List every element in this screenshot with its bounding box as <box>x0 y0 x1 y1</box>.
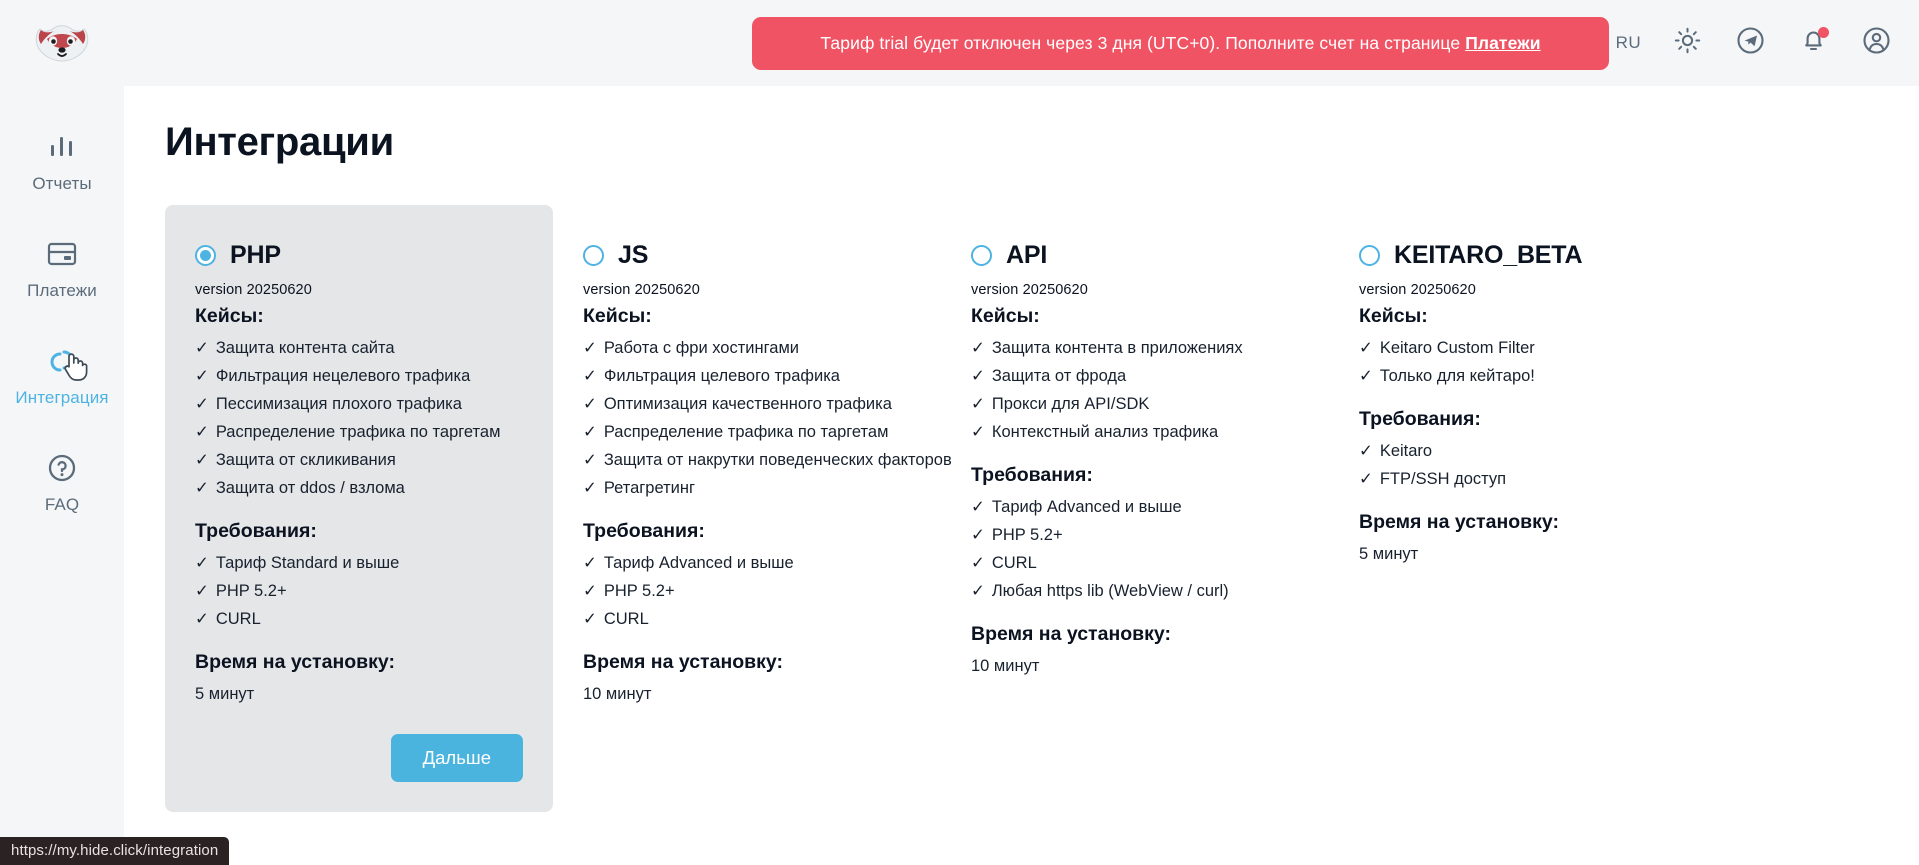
telegram-icon <box>1736 26 1765 60</box>
requirement-text: PHP 5.2+ <box>992 523 1063 547</box>
list-item: ✓PHP 5.2+ <box>971 521 1299 549</box>
account-button[interactable] <box>1859 26 1893 60</box>
list-item: ✓Keitaro <box>1359 437 1687 465</box>
requirements-heading-php: Требования: <box>195 520 523 543</box>
card-title-js: JS <box>618 241 648 270</box>
case-text: Прокси для API/SDK <box>992 392 1150 416</box>
install-time-heading-js: Время на установку: <box>583 651 911 674</box>
card-header-api: API <box>971 241 1299 270</box>
requirement-text: Тариф Advanced и выше <box>604 551 794 575</box>
sidebar-nav: Отчеты Платежи <box>0 114 124 542</box>
case-text: Защита контента сайта <box>216 336 395 360</box>
sidebar-item-payments[interactable]: Платежи <box>0 221 124 314</box>
app-root: Отчеты Платежи <box>0 0 1919 865</box>
list-item: ✓Ретагретинг <box>583 474 911 502</box>
check-icon: ✓ <box>1359 439 1373 463</box>
list-item: ✓Работа с фри хостингами <box>583 334 911 362</box>
integration-card-keitaro-beta[interactable]: KEITARO_BETA version 20250620 Кейсы: ✓Ke… <box>1329 205 1717 598</box>
list-item: ✓Фильтрация целевого трафика <box>583 362 911 390</box>
sidebar-item-integration[interactable]: Интеграция <box>0 328 124 421</box>
check-icon: ✓ <box>195 420 209 444</box>
case-text: Keitaro Custom Filter <box>1380 336 1535 360</box>
card-version-js: version 20250620 <box>583 282 911 298</box>
requirement-text: Тариф Standard и выше <box>216 551 399 575</box>
card-header-keitaro: KEITARO_BETA <box>1359 241 1687 270</box>
sidebar-item-label-faq: FAQ <box>45 495 79 515</box>
card-title-php: PHP <box>230 241 281 270</box>
install-time-value-keitaro: 5 минут <box>1359 540 1687 568</box>
sidebar-item-reports[interactable]: Отчеты <box>0 114 124 207</box>
credit-card-icon <box>45 234 79 274</box>
case-text: Контекстный анализ трафика <box>992 420 1218 444</box>
topbar: Тариф trial будет отключен через 3 дня (… <box>124 0 1919 86</box>
list-item: ✓CURL <box>583 605 911 633</box>
cases-heading-keitaro: Кейсы: <box>1359 305 1687 328</box>
check-icon: ✓ <box>971 523 985 547</box>
check-icon: ✓ <box>195 448 209 472</box>
list-item: ✓Защита контента сайта <box>195 334 523 362</box>
requirement-text: FTP/SSH доступ <box>1380 467 1506 491</box>
check-icon: ✓ <box>971 392 985 416</box>
install-time-value-api: 10 минут <box>971 652 1299 680</box>
check-icon: ✓ <box>195 392 209 416</box>
list-item: ✓FTP/SSH доступ <box>1359 465 1687 493</box>
card-version-keitaro: version 20250620 <box>1359 282 1687 298</box>
case-text: Оптимизация качественного трафика <box>604 392 892 416</box>
card-title-api: API <box>1006 241 1047 270</box>
page-title: Интеграции <box>165 120 1919 165</box>
check-icon: ✓ <box>583 336 597 360</box>
case-text: Защита контента в приложениях <box>992 336 1243 360</box>
cases-heading-api: Кейсы: <box>971 305 1299 328</box>
language-switcher[interactable]: RU <box>1616 33 1641 53</box>
list-item: ✓Распределение трафика по таргетам <box>583 418 911 446</box>
case-text: Защита от накрутки поведенческих факторо… <box>604 448 952 472</box>
list-item: ✓Распределение трафика по таргетам <box>195 418 523 446</box>
radio-api[interactable] <box>971 245 992 266</box>
list-item: ✓Keitaro Custom Filter <box>1359 334 1687 362</box>
question-circle-icon <box>46 448 78 488</box>
check-icon: ✓ <box>971 336 985 360</box>
requirements-heading-js: Требования: <box>583 520 911 543</box>
check-icon: ✓ <box>195 607 209 631</box>
cases-heading-php: Кейсы: <box>195 305 523 328</box>
list-item: ✓Тариф Advanced и выше <box>583 549 911 577</box>
list-item: ✓Тариф Standard и выше <box>195 549 523 577</box>
check-icon: ✓ <box>195 476 209 500</box>
check-icon: ✓ <box>583 392 597 416</box>
check-icon: ✓ <box>195 579 209 603</box>
list-item: ✓PHP 5.2+ <box>195 577 523 605</box>
check-icon: ✓ <box>583 551 597 575</box>
integration-cards-list: PHP version 20250620 Кейсы: ✓Защита конт… <box>165 205 1919 812</box>
list-item: ✓Прокси для API/SDK <box>971 390 1299 418</box>
check-icon: ✓ <box>971 579 985 603</box>
install-time-heading-php: Время на установку: <box>195 651 523 674</box>
integration-card-php[interactable]: PHP version 20250620 Кейсы: ✓Защита конт… <box>165 205 553 812</box>
requirement-text: Тариф Advanced и выше <box>992 495 1182 519</box>
sidebar-item-label-integration: Интеграция <box>15 388 108 408</box>
bar-chart-icon <box>46 127 78 167</box>
integration-card-js[interactable]: JS version 20250620 Кейсы: ✓Работа с фри… <box>553 205 941 738</box>
check-icon: ✓ <box>583 476 597 500</box>
list-item: ✓Фильтрация нецелевого трафика <box>195 362 523 390</box>
radio-php[interactable] <box>195 245 216 266</box>
next-button[interactable]: Дальше <box>391 734 523 782</box>
radio-keitaro-beta[interactable] <box>1359 245 1380 266</box>
list-item: ✓Только для кейтаро! <box>1359 362 1687 390</box>
list-item: ✓CURL <box>195 605 523 633</box>
list-item: ✓Любая https lib (WebView / curl) <box>971 577 1299 605</box>
telegram-button[interactable] <box>1733 26 1767 60</box>
case-text: Пессимизация плохого трафика <box>216 392 462 416</box>
raccoon-logo-icon <box>32 19 92 67</box>
page-content: Интеграции PHP version 20250620 Кейсы: ✓… <box>124 86 1919 812</box>
requirement-text: CURL <box>992 551 1037 575</box>
case-text: Защита от скликивания <box>216 448 396 472</box>
topbar-actions-wrap: RU <box>124 0 1919 86</box>
main-area: Тариф trial будет отключен через 3 дня (… <box>124 0 1919 865</box>
requirement-text: Любая https lib (WebView / curl) <box>992 579 1229 603</box>
user-account-icon <box>1862 26 1891 60</box>
list-item: ✓Тариф Advanced и выше <box>971 493 1299 521</box>
card-title-keitaro-beta: KEITARO_BETA <box>1394 241 1582 270</box>
sun-icon <box>1674 27 1701 59</box>
requirement-text: PHP 5.2+ <box>604 579 675 603</box>
list-item: ✓Защита от фрода <box>971 362 1299 390</box>
notification-badge-dot <box>1818 27 1829 38</box>
list-item: ✓CURL <box>971 549 1299 577</box>
list-item: ✓PHP 5.2+ <box>583 577 911 605</box>
list-item: ✓Защита от скликивания <box>195 446 523 474</box>
integration-card-api[interactable]: API version 20250620 Кейсы: ✓Защита конт… <box>941 205 1329 710</box>
check-icon: ✓ <box>583 607 597 631</box>
install-time-value-php: 5 минут <box>195 680 523 708</box>
check-icon: ✓ <box>195 364 209 388</box>
case-text: Защита от ddos / взлома <box>216 476 405 500</box>
requirement-text: CURL <box>216 607 261 631</box>
card-version-api: version 20250620 <box>971 282 1299 298</box>
notifications-button[interactable] <box>1796 26 1830 60</box>
check-icon: ✓ <box>583 448 597 472</box>
requirements-heading-keitaro: Требования: <box>1359 408 1687 431</box>
topbar-actions: RU <box>1616 26 1893 60</box>
radio-js[interactable] <box>583 245 604 266</box>
sidebar-item-label-reports: Отчеты <box>32 174 91 194</box>
list-item: ✓Оптимизация качественного трафика <box>583 390 911 418</box>
list-item: ✓Защита от ddos / взлома <box>195 474 523 502</box>
case-text: Распределение трафика по таргетам <box>604 420 889 444</box>
check-icon: ✓ <box>583 420 597 444</box>
install-time-heading-keitaro: Время на установку: <box>1359 511 1687 534</box>
check-icon: ✓ <box>971 551 985 575</box>
app-logo[interactable] <box>0 0 124 86</box>
check-icon: ✓ <box>971 420 985 444</box>
requirement-text: Keitaro <box>1380 439 1432 463</box>
check-icon: ✓ <box>971 364 985 388</box>
check-icon: ✓ <box>1359 364 1373 388</box>
install-time-value-js: 10 минут <box>583 680 911 708</box>
check-icon: ✓ <box>971 495 985 519</box>
cases-heading-js: Кейсы: <box>583 305 911 328</box>
link-chain-icon <box>44 341 80 381</box>
case-text: Распределение трафика по таргетам <box>216 420 501 444</box>
card-version-php: version 20250620 <box>195 282 523 298</box>
check-icon: ✓ <box>195 336 209 360</box>
list-item: ✓Защита контента в приложениях <box>971 334 1299 362</box>
list-item: ✓Защита от накрутки поведенческих фактор… <box>583 446 911 474</box>
requirements-heading-api: Требования: <box>971 464 1299 487</box>
check-icon: ✓ <box>1359 336 1373 360</box>
list-item: ✓Пессимизация плохого трафика <box>195 390 523 418</box>
sidebar-item-faq[interactable]: FAQ <box>0 435 124 528</box>
case-text: Ретагретинг <box>604 476 695 500</box>
case-text: Фильтрация нецелевого трафика <box>216 364 470 388</box>
status-bar-url: https://my.hide.click/integration <box>0 837 229 865</box>
check-icon: ✓ <box>1359 467 1373 491</box>
case-text: Работа с фри хостингами <box>604 336 799 360</box>
theme-toggle-button[interactable] <box>1670 26 1704 60</box>
sidebar: Отчеты Платежи <box>0 0 124 865</box>
case-text: Фильтрация целевого трафика <box>604 364 840 388</box>
check-icon: ✓ <box>583 364 597 388</box>
requirement-text: PHP 5.2+ <box>216 579 287 603</box>
card-header-js: JS <box>583 241 911 270</box>
check-icon: ✓ <box>583 579 597 603</box>
sidebar-item-label-payments: Платежи <box>27 281 97 301</box>
card-actions-php: Дальше <box>195 734 523 782</box>
card-header-php: PHP <box>195 241 523 270</box>
install-time-heading-api: Время на установку: <box>971 623 1299 646</box>
list-item: ✓Контекстный анализ трафика <box>971 418 1299 446</box>
case-text: Только для кейтаро! <box>1380 364 1535 388</box>
requirement-text: CURL <box>604 607 649 631</box>
case-text: Защита от фрода <box>992 364 1126 388</box>
check-icon: ✓ <box>195 551 209 575</box>
